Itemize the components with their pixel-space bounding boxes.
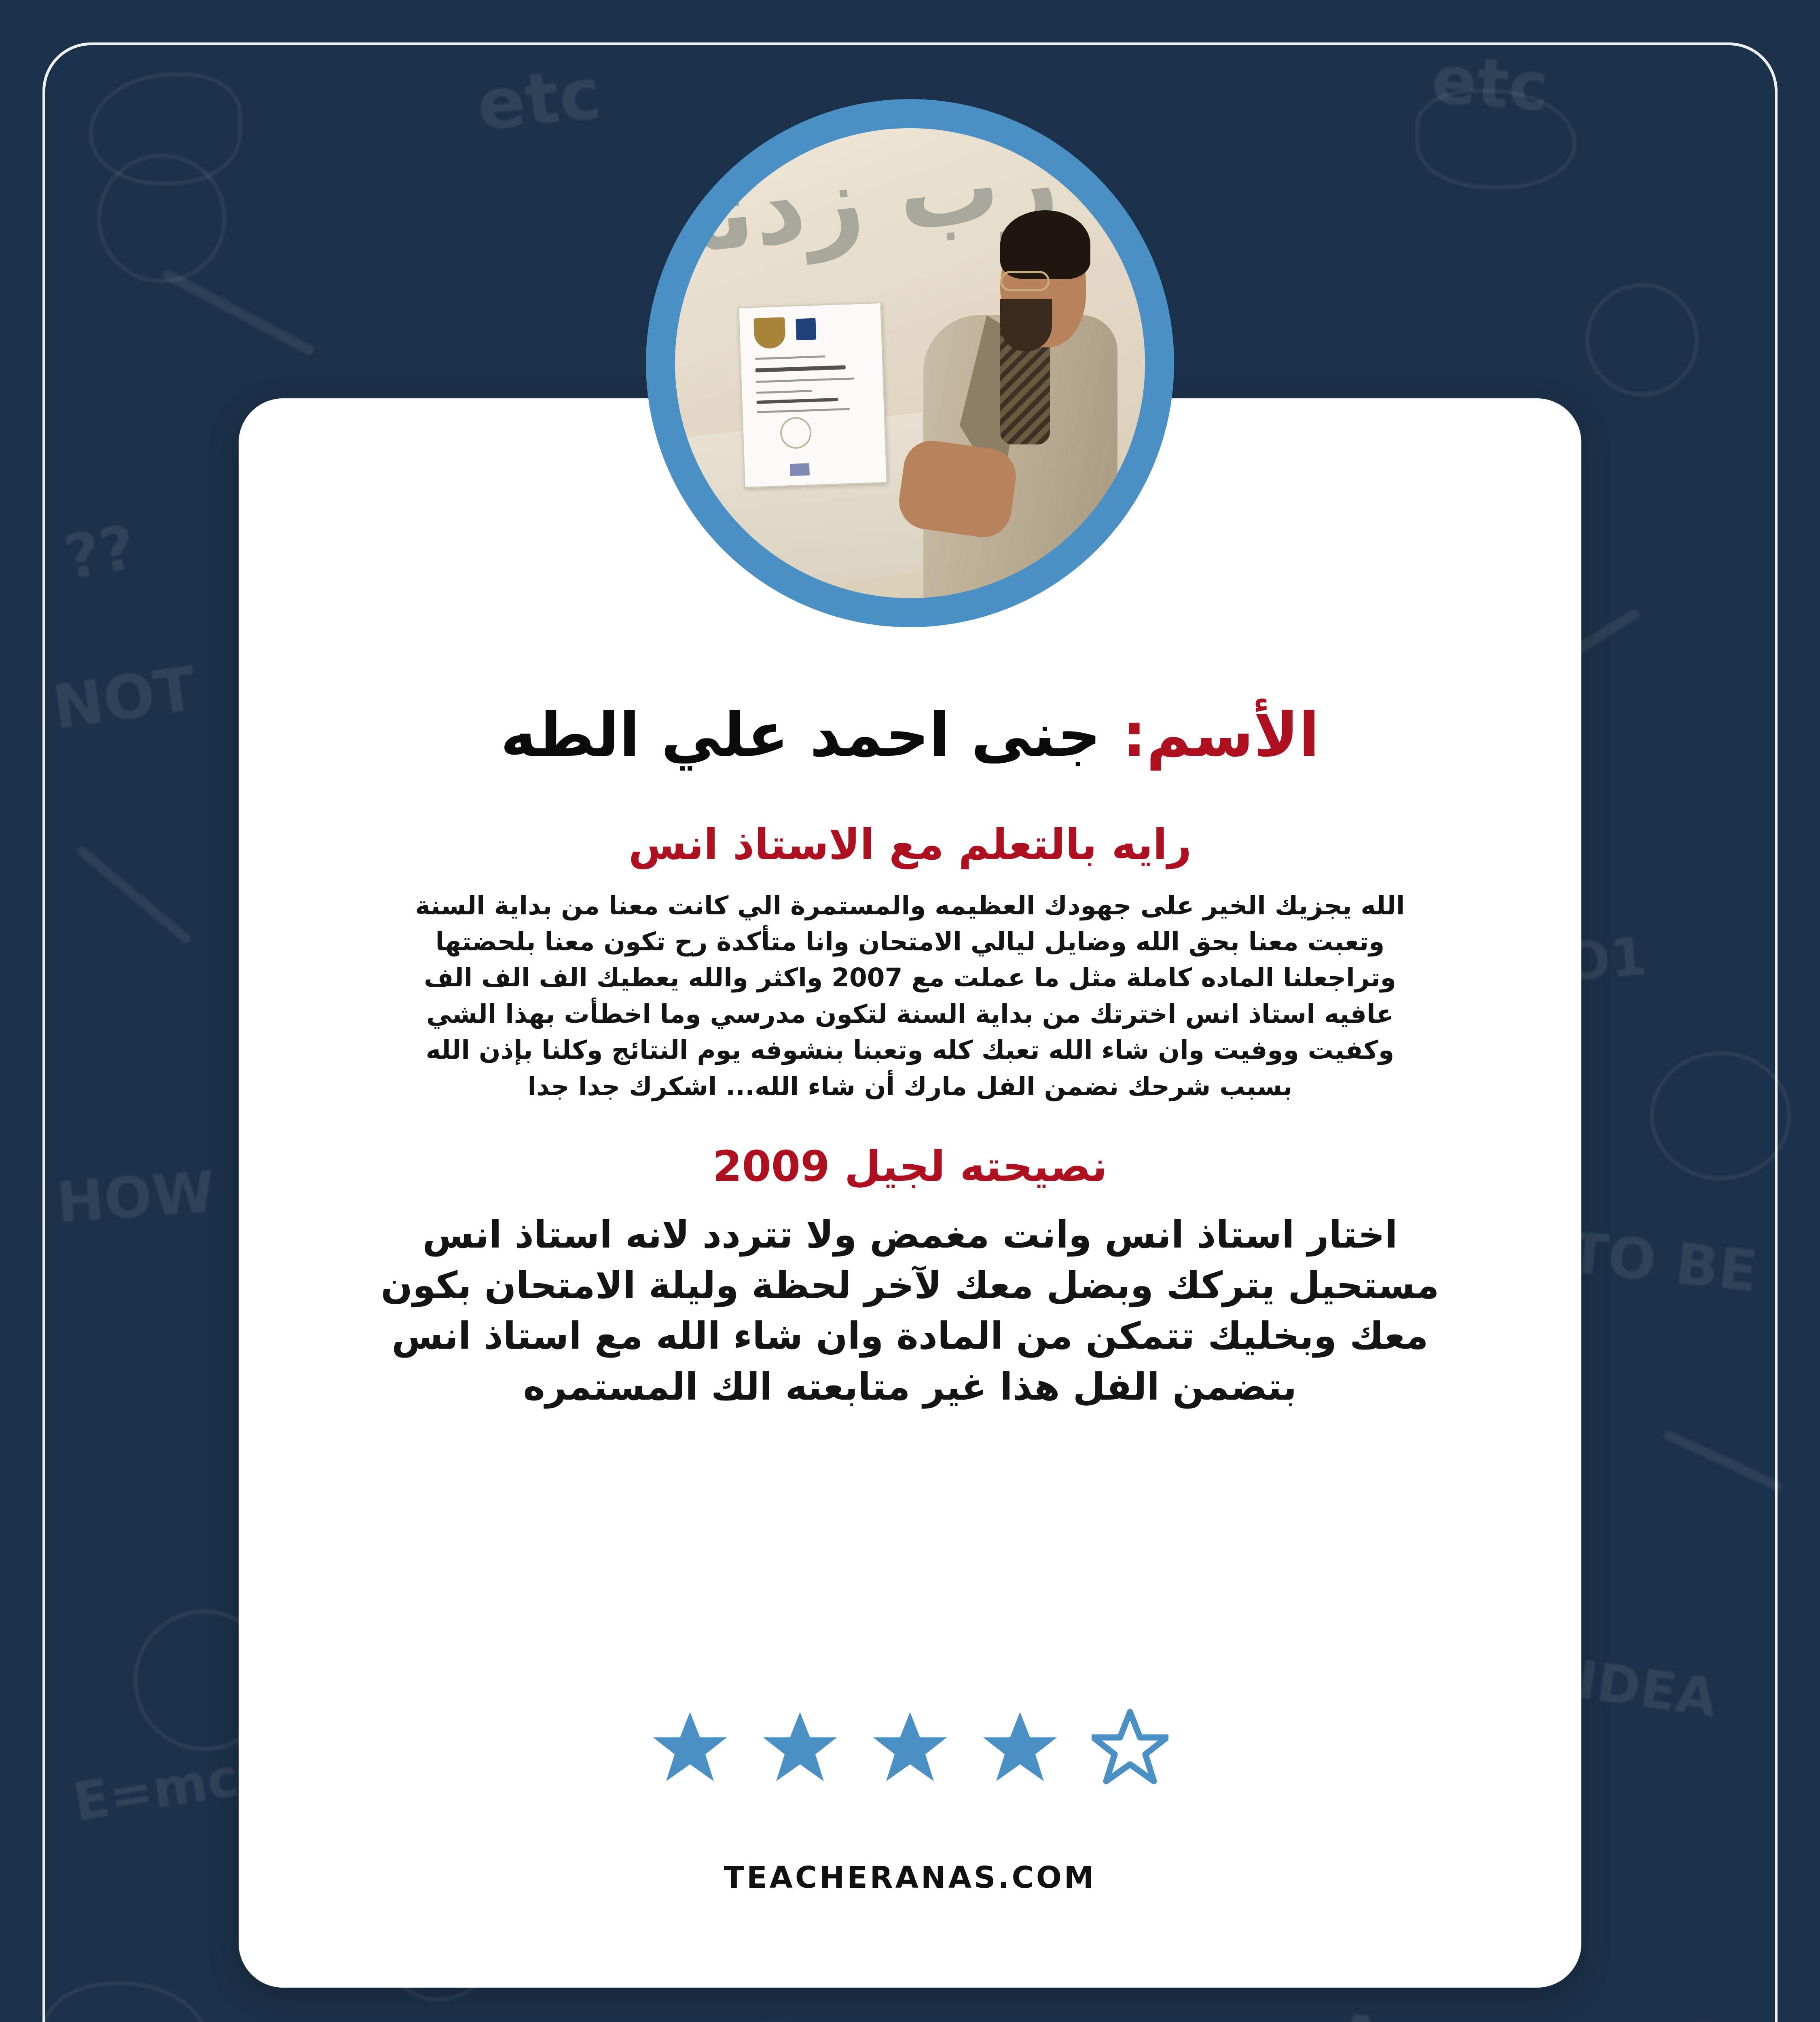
certificate-crest-icon bbox=[753, 317, 785, 349]
name-label: الأسم: bbox=[1122, 700, 1319, 770]
avatar-photo: رب زدني علما bbox=[675, 128, 1145, 598]
photo-person bbox=[910, 194, 1136, 598]
doodle-not: NOT bbox=[49, 654, 201, 743]
doodle-stroke-4 bbox=[1662, 1429, 1784, 1493]
certificate-line-4 bbox=[757, 408, 850, 413]
certificate-line-3 bbox=[756, 389, 813, 393]
doodle-idea: IDEA bbox=[1574, 1649, 1721, 1729]
opinion-body: الله يجزيك الخير على جهودك العظيمه والمس… bbox=[324, 888, 1496, 1105]
doodle-stroke-3 bbox=[74, 844, 192, 945]
advice-heading: نصيحته لجيل 2009 bbox=[324, 1140, 1496, 1193]
certificate-line-1 bbox=[755, 355, 825, 360]
doodle-blob-4 bbox=[1650, 1051, 1791, 1180]
advice-body: اختار استاذ انس وانت مغمض ولا تتردد لانه… bbox=[324, 1210, 1496, 1412]
doodle-etc: etc bbox=[473, 53, 605, 147]
doodle-blob-5 bbox=[40, 1982, 210, 2022]
testimonial-card: الأسم: جنى احمد علي الطه رايه بالتعلم مع… bbox=[239, 398, 1581, 1988]
star-icon-filled-3 bbox=[872, 1709, 948, 1785]
certificate-degree-title-line bbox=[755, 365, 845, 372]
star-icon-filled-4 bbox=[982, 1709, 1058, 1785]
certificate-document bbox=[738, 302, 887, 488]
doodle-how: HOW bbox=[55, 1159, 217, 1236]
open-university-logo-icon bbox=[796, 318, 817, 340]
doodle-blob-2 bbox=[1416, 89, 1577, 189]
certificate-stamp-icon bbox=[789, 463, 810, 476]
photo-arm bbox=[895, 437, 1020, 541]
student-name-line: الأسم: جنى احمد علي الطه bbox=[324, 698, 1496, 774]
glasses-icon bbox=[1000, 271, 1050, 291]
rating-stars bbox=[239, 1709, 1581, 1785]
opinion-heading: رايه بالتعلم مع الاستاذ انس bbox=[324, 818, 1496, 871]
website-url[interactable]: TEACHERANAS.COM bbox=[724, 1860, 1096, 1895]
card-footer: TEACHERANAS.COM bbox=[239, 1860, 1581, 1895]
star-icon-outline-5 bbox=[1092, 1709, 1168, 1785]
star-icon-filled-2 bbox=[762, 1709, 838, 1785]
doodle-blob-3 bbox=[89, 73, 242, 185]
star-icon-filled-1 bbox=[652, 1709, 728, 1785]
doodle-stroke-1 bbox=[161, 268, 316, 357]
doodle-question: ?? bbox=[59, 512, 141, 594]
certificate-name-line bbox=[756, 398, 838, 404]
certificate-line-2 bbox=[756, 377, 854, 383]
certificate-seal-icon bbox=[779, 417, 812, 449]
name-value: جنى احمد علي الطه bbox=[500, 700, 1101, 770]
doodle-emc: E=mc bbox=[69, 1747, 243, 1833]
photo-hair bbox=[1000, 210, 1090, 279]
doodle-ring-2 bbox=[1585, 283, 1699, 396]
doodle-a: A bbox=[1332, 2000, 1388, 2022]
doodle-to-be: TO BE bbox=[1566, 1220, 1761, 1305]
avatar-ring: رب زدني علما bbox=[646, 99, 1174, 627]
photo-beard bbox=[1000, 299, 1052, 352]
